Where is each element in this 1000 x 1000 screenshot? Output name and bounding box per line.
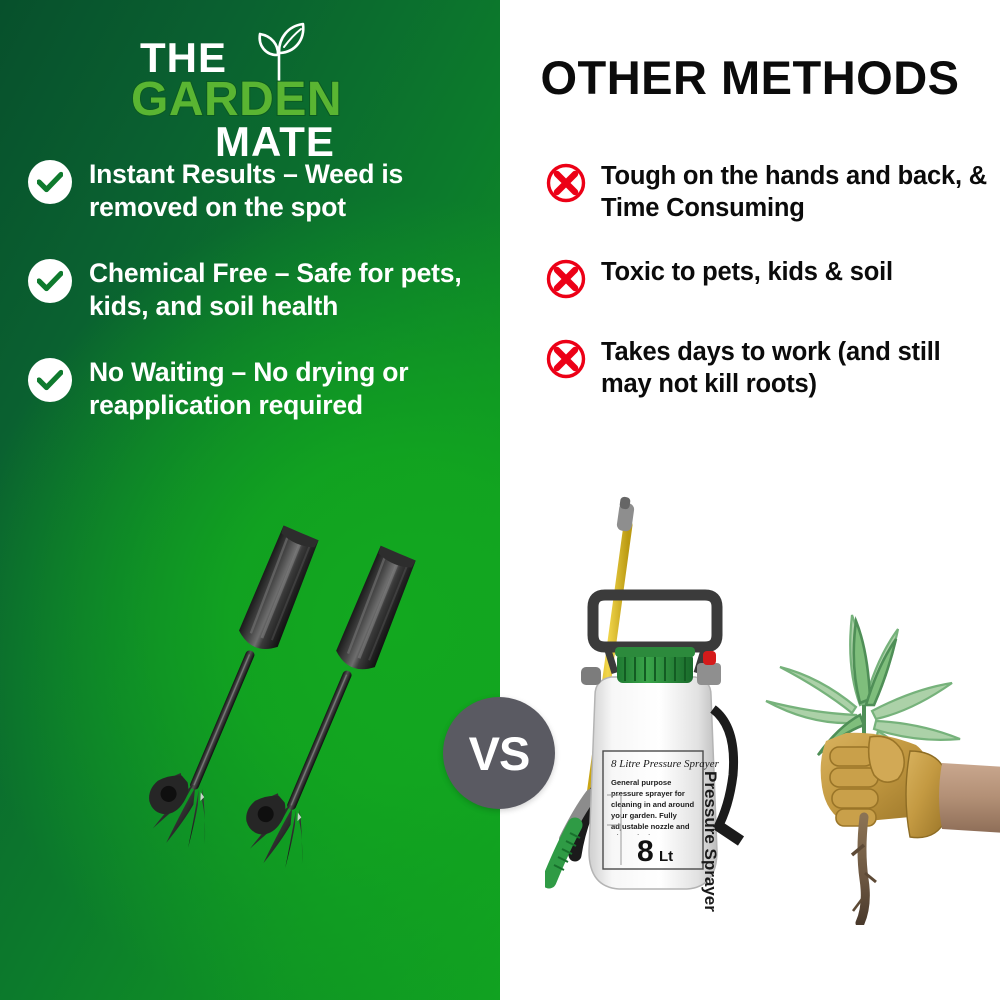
list-item: Chemical Free – Safe for pets, kids, and… [28,257,488,324]
list-item-label: Tough on the hands and back, & Time Cons… [601,160,995,224]
drawbacks-list: Tough on the hands and back, & Time Cons… [545,160,995,433]
sprayer-label-title: 8 Litre Pressure Sprayer [611,758,720,770]
comparison-infographic: THE GARDEN MATE Instant Results – Weed i… [0,0,1000,1000]
vs-label: VS [469,726,530,781]
benefits-list: Instant Results – Weed is removed on the… [28,158,488,454]
list-item-label: Toxic to pets, kids & soil [601,256,893,288]
list-item: Instant Results – Weed is removed on the… [28,158,488,225]
list-item: Toxic to pets, kids & soil [545,256,995,300]
page-title: OTHER METHODS [500,50,1000,105]
weeding-tools-image [40,495,460,915]
list-item-label: Takes days to work (and still may not ki… [601,336,995,400]
brand-logo: THE GARDEN MATE [110,22,410,142]
vs-badge: VS [443,697,555,809]
x-circle-icon [545,338,587,380]
check-circle-icon [28,259,72,303]
list-item-label: No Waiting – No drying or reapplication … [89,356,488,423]
check-circle-icon [28,358,72,402]
list-item-label: Instant Results – Weed is removed on the… [89,158,488,225]
list-item-label: Chemical Free – Safe for pets, kids, and… [89,257,488,324]
hand-with-weed-image [760,555,1000,925]
list-item: No Waiting – No drying or reapplication … [28,356,488,423]
x-circle-icon [545,162,587,204]
x-circle-icon [545,258,587,300]
pressure-sprayer-image: 8 Litre Pressure Sprayer General purpose… [545,495,795,925]
sprayer-side-text: Pressure Sprayer [701,771,720,912]
check-circle-icon [28,160,72,204]
sprayer-label-body: General purpose pressure sprayer for cle… [611,777,695,835]
sprayer-capacity-unit: Lt [659,848,673,865]
sprayer-capacity-number: 8 [637,835,654,868]
list-item: Takes days to work (and still may not ki… [545,336,995,400]
list-item: Tough on the hands and back, & Time Cons… [545,160,995,224]
